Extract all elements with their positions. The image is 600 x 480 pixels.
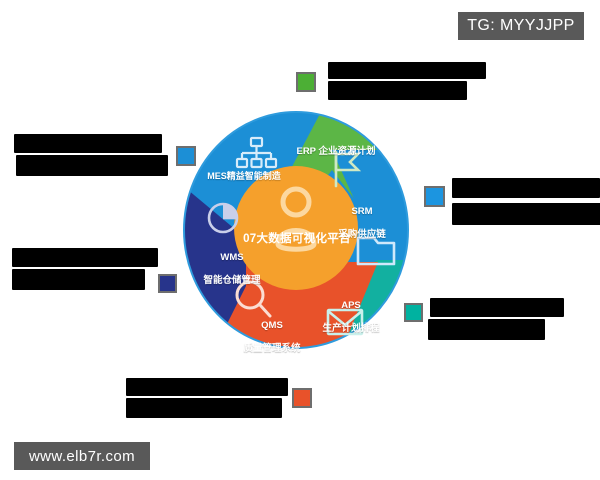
redacted-callout-top: [296, 62, 486, 102]
redacted-callout-right-upper: [424, 178, 600, 226]
redacted-bar: [16, 155, 168, 176]
redacted-bar: [12, 248, 158, 267]
legend-marker-top: [296, 72, 316, 92]
redacted-bar: [452, 178, 600, 198]
redacted-bar: [126, 398, 282, 418]
redacted-callout-right-lower: [404, 298, 582, 344]
redacted-bar: [430, 298, 564, 317]
screenshot-canvas: MES精益智能制造 ERP 企业资源计划 SRM 采购供应链 APS 生产计划排…: [0, 0, 600, 480]
legend-marker-right-upper: [424, 186, 445, 207]
telegram-watermark: TG: MYYJJPP: [458, 12, 584, 40]
redacted-callout-bottom: [126, 378, 316, 420]
redacted-callout-left-upper: [14, 134, 194, 180]
site-watermark: www.elb7r.com: [14, 442, 150, 470]
redacted-bar: [126, 378, 288, 396]
redacted-bar: [452, 203, 600, 225]
legend-marker-bottom: [292, 388, 312, 408]
redacted-bar: [328, 62, 486, 79]
redacted-bar: [14, 134, 162, 153]
redacted-callout-left-lower: [12, 248, 190, 294]
legend-marker-left-lower: [158, 274, 177, 293]
redacted-bar: [12, 269, 145, 290]
redacted-bar: [328, 81, 467, 100]
redacted-bar: [428, 319, 545, 340]
platform-wheel-diagram: MES精益智能制造 ERP 企业资源计划 SRM 采购供应链 APS 生产计划排…: [182, 110, 410, 350]
